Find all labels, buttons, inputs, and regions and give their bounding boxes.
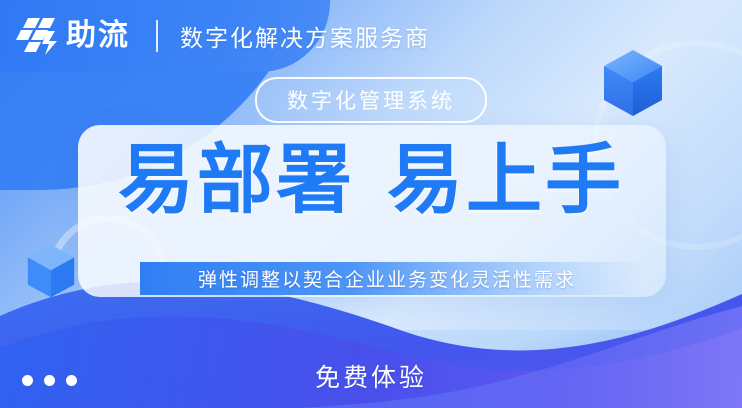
carousel-dot-2[interactable] bbox=[44, 375, 55, 386]
hero-headline: 易部署易上手 bbox=[0, 143, 742, 219]
hero-subtitle-band: 弹性调整以契合企业业务变化灵活性需求 bbox=[140, 262, 640, 295]
headline-part-1: 易部署 bbox=[118, 138, 355, 223]
banner-header: 助流 数字化解决方案服务商 bbox=[0, 0, 742, 72]
carousel-dot-1[interactable] bbox=[22, 375, 33, 386]
hero-subtitle: 弹性调整以契合企业业务变化灵活性需求 bbox=[198, 265, 576, 292]
header-divider bbox=[156, 20, 158, 52]
logo-text: 助流 bbox=[66, 21, 130, 51]
cube-icon-left bbox=[26, 243, 76, 299]
headline-part-2: 易上手 bbox=[387, 138, 624, 223]
cta-free-trial[interactable]: 免费体验 bbox=[0, 358, 742, 394]
brand-logo[interactable]: 助流 bbox=[16, 15, 130, 57]
system-badge: 数字化管理系统 bbox=[255, 77, 487, 123]
header-tagline: 数字化解决方案服务商 bbox=[180, 19, 430, 53]
carousel-indicators[interactable] bbox=[22, 375, 77, 386]
carousel-dot-3[interactable] bbox=[66, 375, 77, 386]
flow-lightning-icon bbox=[16, 15, 62, 57]
promo-banner: 助流 数字化解决方案服务商 数字化管理系统 易部署易上手 弹性调整以契合企业业务… bbox=[0, 0, 742, 408]
